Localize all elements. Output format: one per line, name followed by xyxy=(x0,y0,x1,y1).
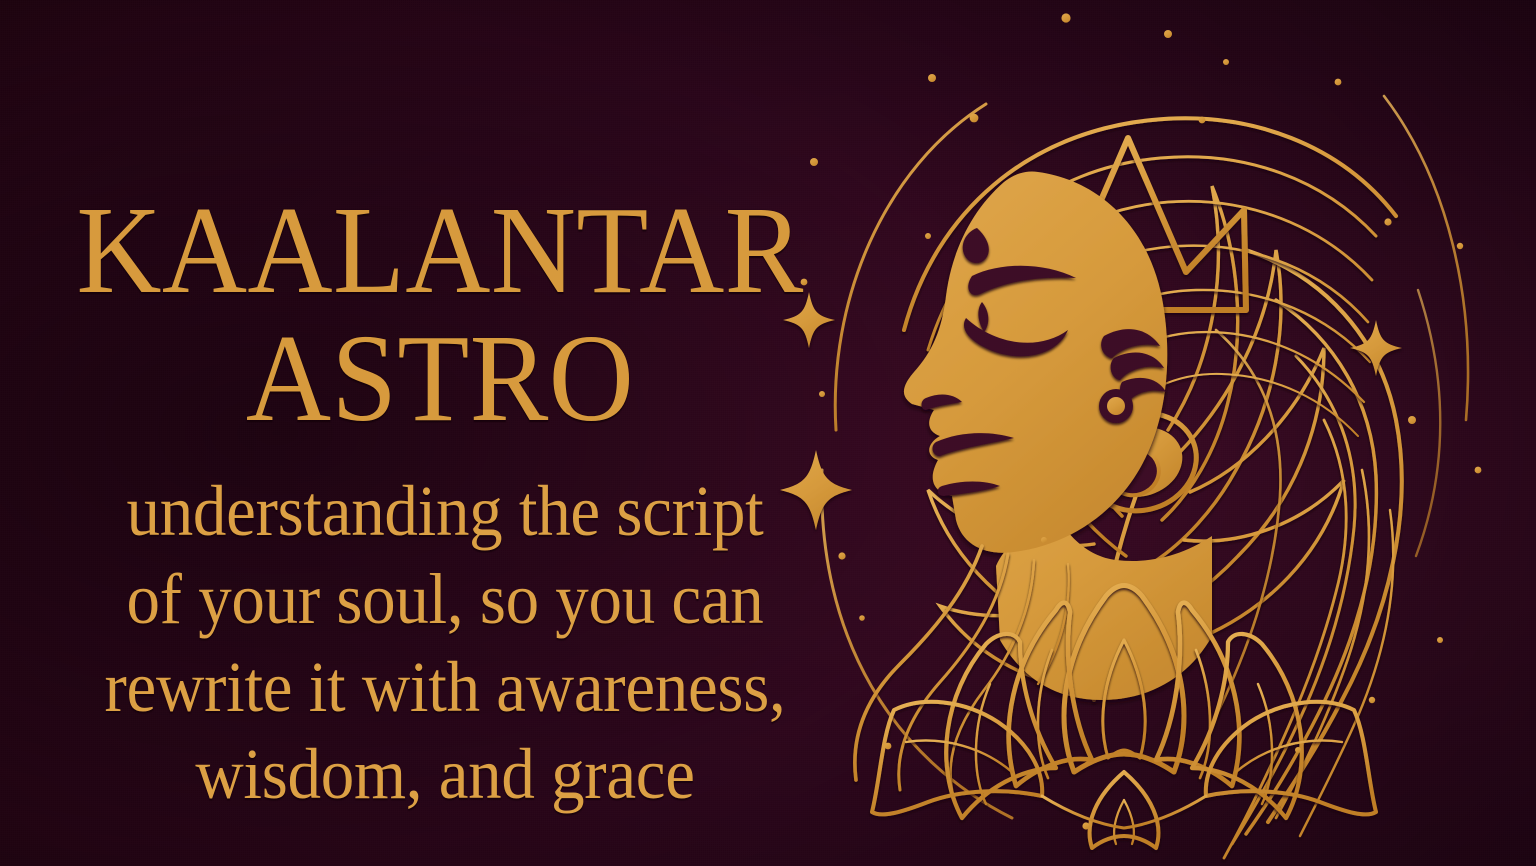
tagline-line-2: of your soul, so you can xyxy=(31,556,859,644)
tagline-line-3: rewrite it with awareness, xyxy=(31,644,859,732)
goddess-illustration xyxy=(776,0,1536,866)
text-block: KAALANTAR ASTRO understanding the script… xyxy=(0,0,880,866)
page-title: KAALANTAR ASTRO xyxy=(0,196,880,439)
brand-banner: KAALANTAR ASTRO understanding the script… xyxy=(0,0,1536,866)
tagline: understanding the script of your soul, s… xyxy=(0,468,890,819)
tagline-line-1: understanding the script xyxy=(31,468,859,556)
title-line-2: ASTRO xyxy=(0,317,880,440)
tagline-line-4: wisdom, and grace xyxy=(31,731,859,819)
title-line-1: KAALANTAR xyxy=(0,189,880,312)
